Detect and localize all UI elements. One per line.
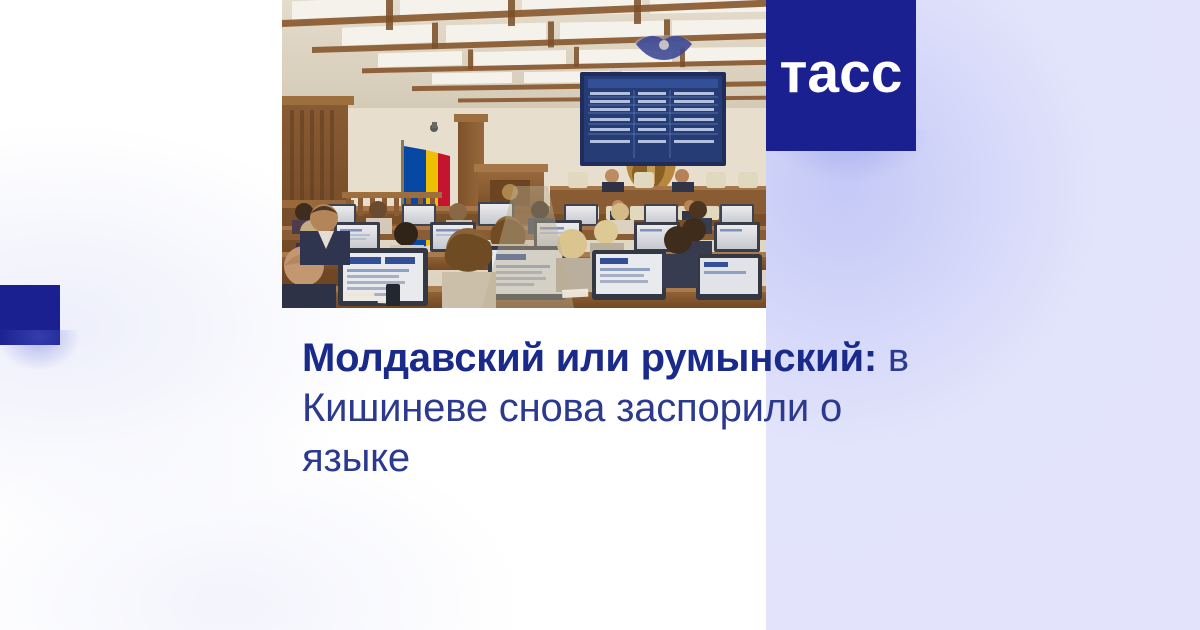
headline-lead: Молдавский или румынский:	[302, 336, 877, 380]
headline: Молдавский или румынский: в Кишиневе сно…	[302, 333, 922, 483]
tass-logo-text: тасс	[766, 0, 916, 151]
accent-square-glow	[0, 330, 96, 398]
article-photo	[282, 0, 766, 308]
tass-logo[interactable]: тасс	[766, 0, 916, 151]
news-card: тасс Молдавский или румынский: в Кишинев…	[0, 0, 1200, 630]
